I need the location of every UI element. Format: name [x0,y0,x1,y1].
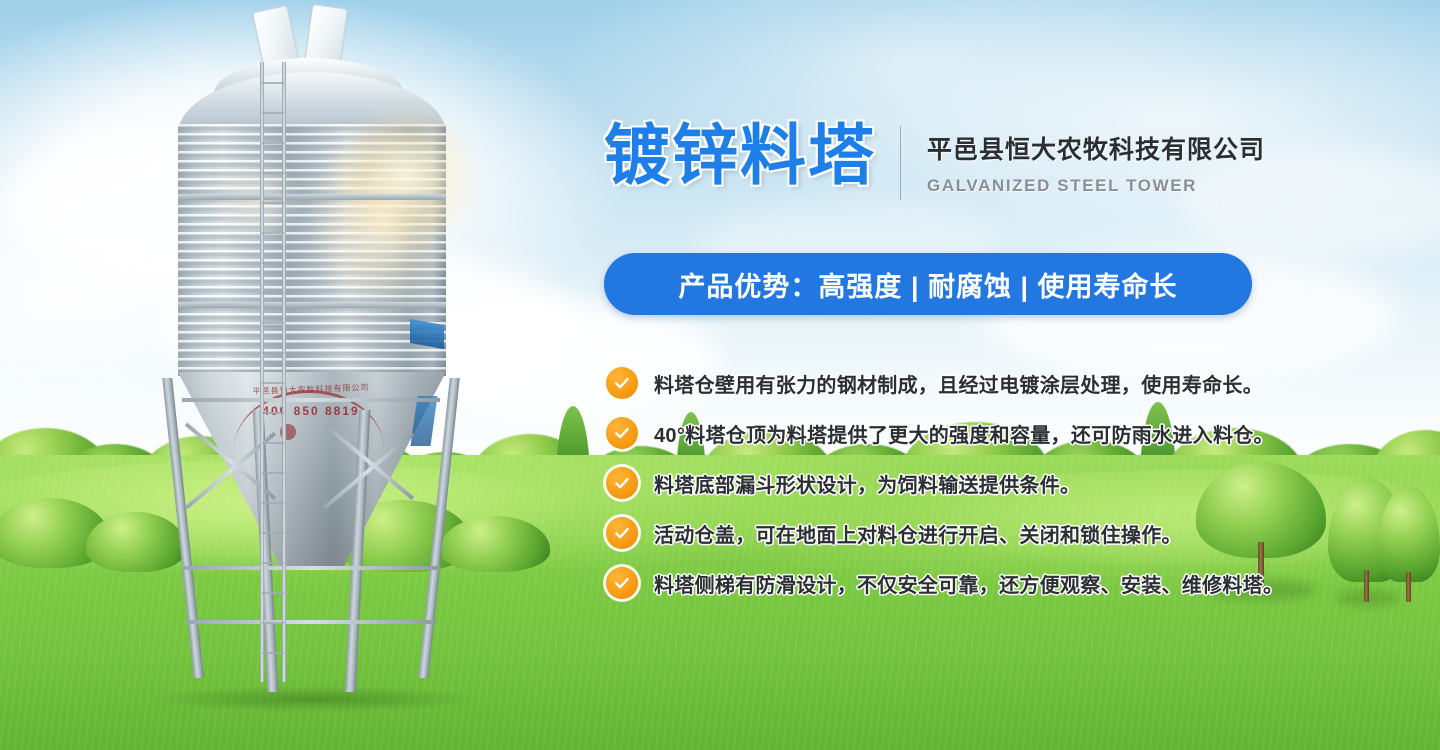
galvanized-silo-image: 平邑县恒大农牧科技有限公司 400 850 8819 [152,6,482,726]
lawn-tree [1378,486,1440,608]
feature-text: 料塔侧梯有防滑设计，不仅安全可靠，还方便观察、安装、维修料塔。 [654,569,1283,598]
silo-cross-brace [186,620,436,624]
feature-text: 料塔底部漏斗形状设计，为饲料输送提供条件。 [654,469,1080,498]
check-circle-icon [606,467,638,499]
check-circle-icon [606,367,638,399]
page-title: 镀锌料塔 [604,122,876,188]
feature-item: 料塔底部漏斗形状设计，为饲料输送提供条件。 [606,458,1306,508]
company-name-en: GALVANIZED STEEL TOWER [927,176,1265,196]
advantage-badge: 产品优势：高强度 | 耐腐蚀 | 使用寿命长 [604,253,1252,315]
title-divider [900,126,901,200]
feature-list: 料塔仓壁用有张力的钢材制成，且经过电镀涂层处理，使用寿命长。 40°料塔仓顶为料… [606,358,1306,608]
feature-item: 40°料塔仓顶为料塔提供了更大的强度和容量，还可防雨水进入料仓。 [606,408,1306,458]
feature-item: 料塔仓壁用有张力的钢材制成，且经过电镀涂层处理，使用寿命长。 [606,358,1306,408]
silo-band [178,302,446,308]
advantage-badge-label: 产品优势：高强度 | 耐腐蚀 | 使用寿命长 [678,265,1177,304]
feature-text: 活动仓盖，可在地面上对料仓进行开启、关闭和锁住操作。 [654,519,1182,548]
check-circle-icon [606,517,638,549]
silo-leg [162,378,204,678]
company-name: 平邑县恒大农牧科技有限公司 [927,130,1265,166]
check-circle-icon [606,417,638,449]
feature-item: 活动仓盖，可在地面上对料仓进行开启、关闭和锁住操作。 [606,508,1306,558]
silo-band [178,194,446,200]
silo-cross-brace [182,398,440,402]
headline-group: 镀锌料塔 平邑县恒大农牧科技有限公司 GALVANIZED STEEL TOWE… [604,122,1265,200]
silo-body [178,124,446,376]
feature-text: 40°料塔仓顶为料塔提供了更大的强度和容量，还可防雨水进入料仓。 [654,419,1274,448]
feature-item: 料塔侧梯有防滑设计，不仅安全可靠，还方便观察、安装、维修料塔。 [606,558,1306,608]
silo-ladder [260,62,286,682]
silo-cross-brace [184,566,440,570]
check-circle-icon [606,567,638,599]
feature-text: 料塔仓壁用有张力的钢材制成，且经过电镀涂层处理，使用寿命长。 [654,369,1263,398]
hero-banner: 平邑县恒大农牧科技有限公司 400 850 8819 [0,0,1440,750]
